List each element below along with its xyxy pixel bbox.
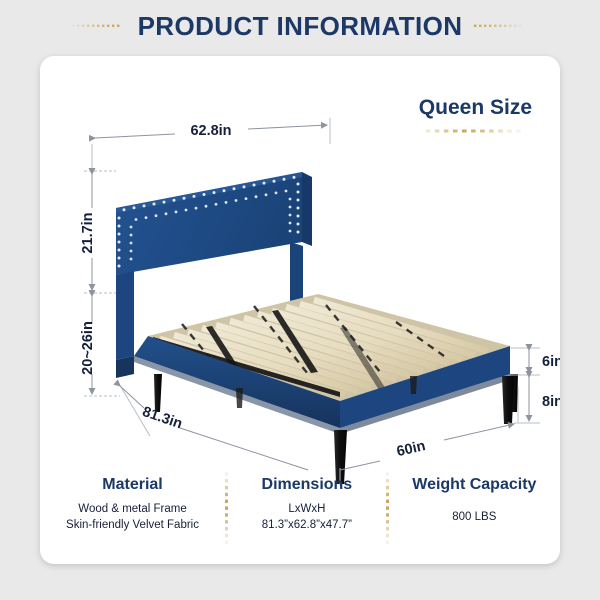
- spec-heading-dimensions: Dimensions: [262, 476, 353, 494]
- product-information-page: PRODUCT INFORMATION Queen Size: [0, 0, 600, 600]
- spec-column-weight-capacity: Weight Capacity 800 LBS: [389, 468, 560, 525]
- dimension-label-frame-height: 6in: [542, 354, 560, 370]
- spec-value-dimensions-1: LxWxH: [288, 501, 325, 517]
- spec-heading-weight-capacity: Weight Capacity: [412, 476, 536, 494]
- page-title: PRODUCT INFORMATION: [138, 11, 463, 42]
- dimension-headboard-width: 62.8in: [92, 118, 330, 168]
- dotted-rule-right-icon: [474, 24, 528, 28]
- dimension-headboard-height: 21.7in: [80, 171, 116, 293]
- dimension-label-headboard-width: 62.8in: [190, 123, 231, 139]
- headboard: [116, 172, 312, 275]
- headboard-post-right: [290, 242, 303, 306]
- bed-leg-mid-left: [236, 388, 243, 408]
- bed-leg-front-right: [502, 376, 514, 424]
- spec-value-material-1: Wood & metal Frame: [78, 501, 186, 517]
- spec-column-material: Material Wood & metal Frame Skin-friendl…: [40, 468, 225, 533]
- dimension-label-bed-width: 60in: [395, 438, 427, 460]
- spec-value-dimensions-2: 81.3”x62.8”x47.7”: [262, 517, 352, 533]
- dimension-label-bed-length: 81.3in: [140, 404, 184, 433]
- page-header: PRODUCT INFORMATION: [0, 0, 600, 52]
- dimension-label-leg-height: 8in: [542, 394, 560, 410]
- bed-leg-mid-right: [410, 376, 417, 394]
- spec-value-weight-capacity-1: 800 LBS: [452, 509, 496, 525]
- headboard-post-left: [116, 271, 134, 360]
- bed-diagram: 62.8in 21.7in 20~26in: [40, 56, 560, 486]
- dimension-leg-height: 8in: [514, 377, 560, 423]
- dimension-clearance-height: 20~26in: [80, 296, 120, 396]
- product-card: Queen Size: [40, 56, 560, 564]
- dimension-label-clearance-height: 20~26in: [80, 321, 96, 375]
- spec-value-material-2: Skin-friendly Velvet Fabric: [66, 517, 199, 533]
- dimension-label-headboard-height: 21.7in: [80, 212, 96, 253]
- spec-column-dimensions: Dimensions LxWxH 81.3”x62.8”x47.7”: [228, 468, 386, 533]
- spec-heading-material: Material: [102, 476, 162, 494]
- dimension-frame-height: 6in: [510, 348, 560, 375]
- dotted-rule-left-icon: [72, 24, 126, 28]
- spec-strip: Material Wood & metal Frame Skin-friendl…: [40, 468, 560, 564]
